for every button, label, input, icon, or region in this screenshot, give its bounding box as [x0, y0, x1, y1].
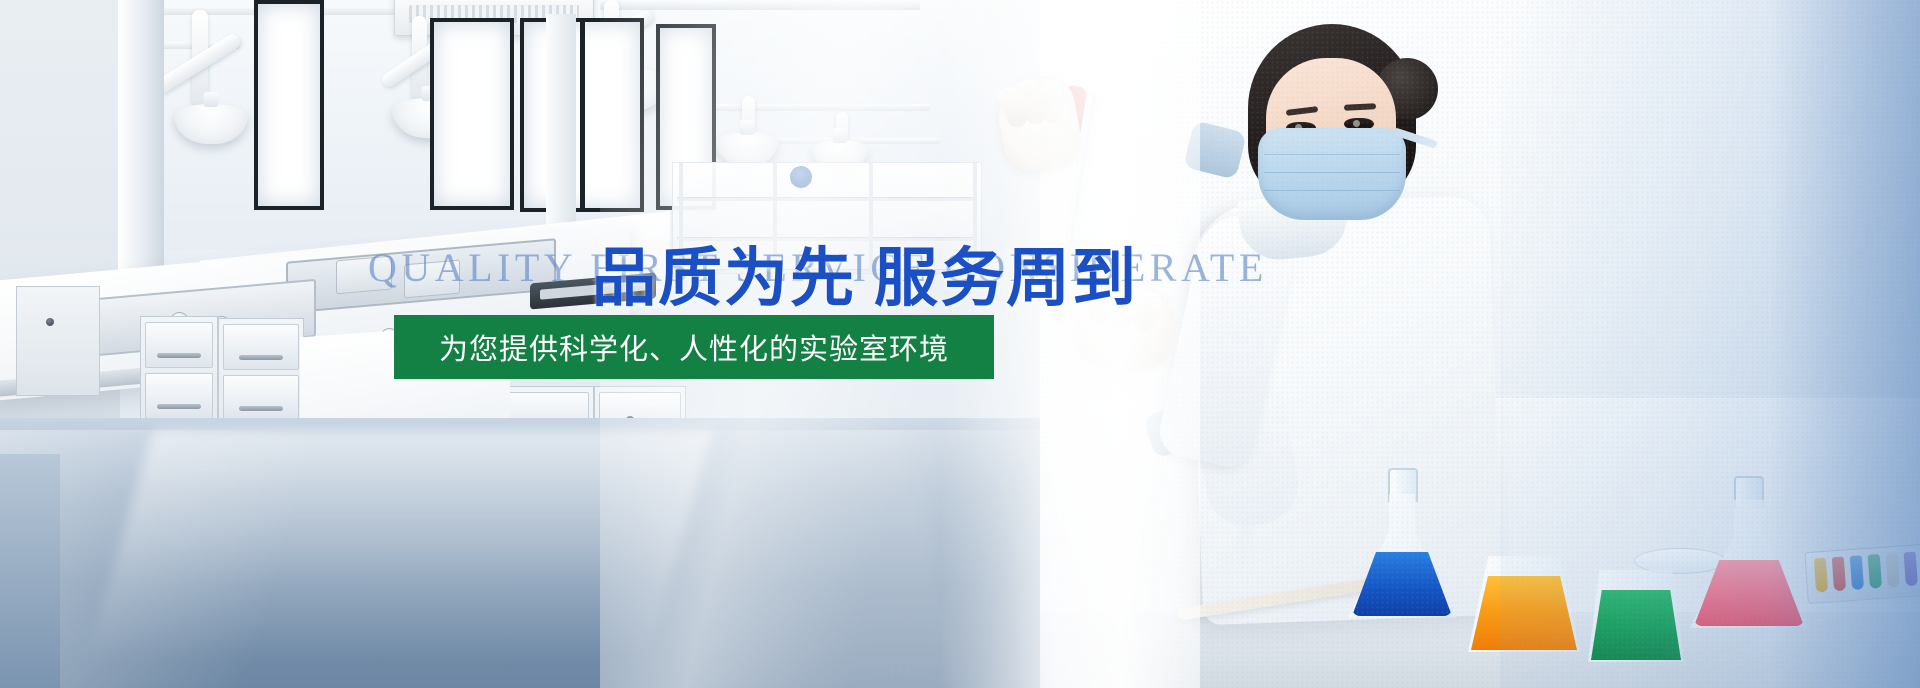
column: [118, 0, 164, 300]
flask-liquid-orange: [1471, 576, 1577, 650]
mask-pleat: [1264, 190, 1400, 191]
hero-banner: QUALITY FIRST SERVICE CONSIDERATE 品质为先服务…: [0, 0, 1920, 688]
glove-finger: [1088, 284, 1111, 325]
bench-socket: [336, 256, 392, 295]
face-mask: [1258, 128, 1406, 220]
flask-liquid-blue: [1352, 552, 1452, 616]
window-mullion: [580, 22, 585, 208]
banner-subtitle-text: 为您提供科学化、人性化的实验室环境: [439, 326, 949, 368]
drawer: [223, 375, 299, 421]
window: [520, 18, 644, 212]
mask-pleat: [1264, 154, 1400, 155]
test-tube: [1814, 558, 1828, 593]
test-tube-rack: [1804, 544, 1920, 604]
banner-subtitle-bar[interactable]: 为您提供科学化、人性化的实验室环境: [394, 315, 994, 379]
window-post: [546, 14, 576, 228]
floor-left-edge: [0, 454, 60, 688]
cabinet-lock-icon: [46, 318, 54, 326]
conical-flask-pink: [1690, 500, 1808, 628]
shelf-post: [869, 163, 873, 273]
bench-socket: [404, 260, 460, 299]
test-tube: [1886, 553, 1900, 588]
shelf-post: [973, 163, 977, 273]
test-tube: [1904, 551, 1918, 586]
shelf-bar: [677, 197, 977, 201]
wall-logo-icon: [790, 166, 812, 188]
shelf-post: [679, 163, 683, 273]
drawer: [223, 324, 299, 370]
flask-liquid-pink: [1694, 560, 1804, 626]
beaker-green: [1588, 570, 1684, 662]
conical-flask-blue: [1348, 494, 1456, 618]
under-bench-cabinet: [16, 286, 100, 396]
beaker-orange: [1468, 556, 1580, 652]
floor-sheen: [0, 430, 1160, 688]
test-tube: [1850, 555, 1864, 590]
shelf-post: [773, 163, 777, 273]
flask-liquid-green: [1591, 590, 1681, 660]
test-tube: [1832, 557, 1846, 592]
drawer: [145, 373, 213, 419]
shelf-bar: [677, 269, 977, 273]
wall-shelf-unit: [672, 162, 982, 274]
test-tube: [1868, 554, 1882, 589]
window: [430, 18, 514, 210]
mask-pleat: [1264, 172, 1400, 173]
shelf-bar: [677, 237, 977, 241]
drawer: [145, 322, 213, 368]
window: [254, 0, 324, 210]
glove-finger: [1040, 78, 1064, 124]
ceiling-rail: [600, 0, 920, 10]
